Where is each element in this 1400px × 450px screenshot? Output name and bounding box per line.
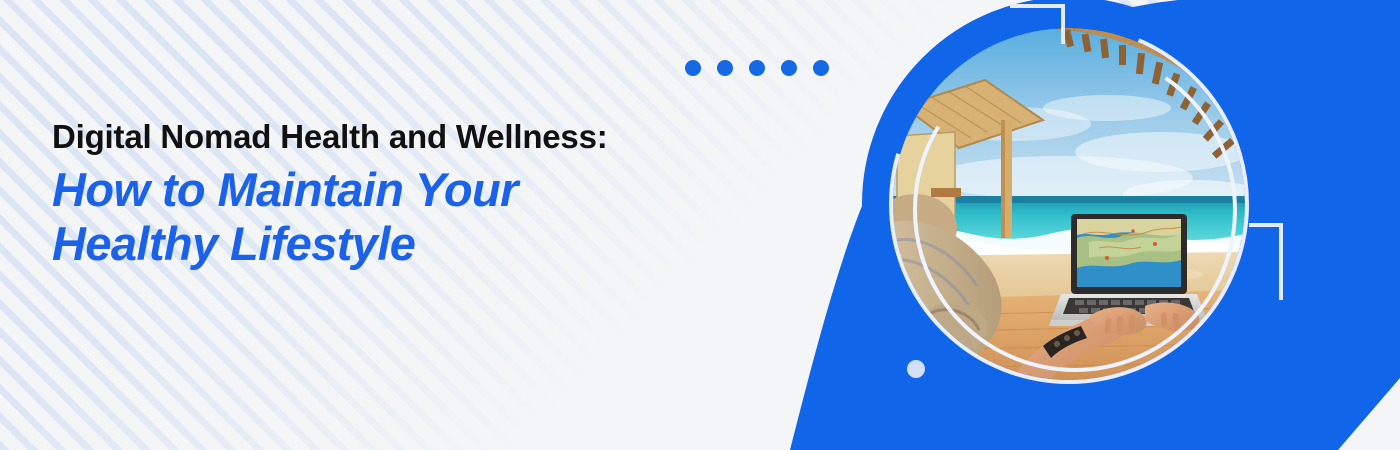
decorative-dot-4 [781, 60, 797, 76]
decorative-dot-1 [685, 60, 701, 76]
arc-node-dot [907, 360, 925, 378]
headline-block: Digital Nomad Health and Wellness: How t… [52, 118, 812, 272]
right-bracket-icon [1249, 225, 1281, 300]
page-title: How to Maintain Your Healthy Lifestyle [52, 163, 812, 272]
headline-line-2: Healthy Lifestyle [52, 217, 812, 272]
headline-line-1: How to Maintain Your [52, 163, 812, 218]
eyebrow-text: Digital Nomad Health and Wellness: [52, 118, 812, 157]
beach-laptop-photo [893, 28, 1245, 380]
decorative-dots-row [685, 60, 829, 76]
decorative-dot-2 [717, 60, 733, 76]
decorative-dot-5 [813, 60, 829, 76]
photo-circle [893, 28, 1245, 380]
banner-root: Digital Nomad Health and Wellness: How t… [0, 0, 1400, 450]
decorative-dot-3 [749, 60, 765, 76]
